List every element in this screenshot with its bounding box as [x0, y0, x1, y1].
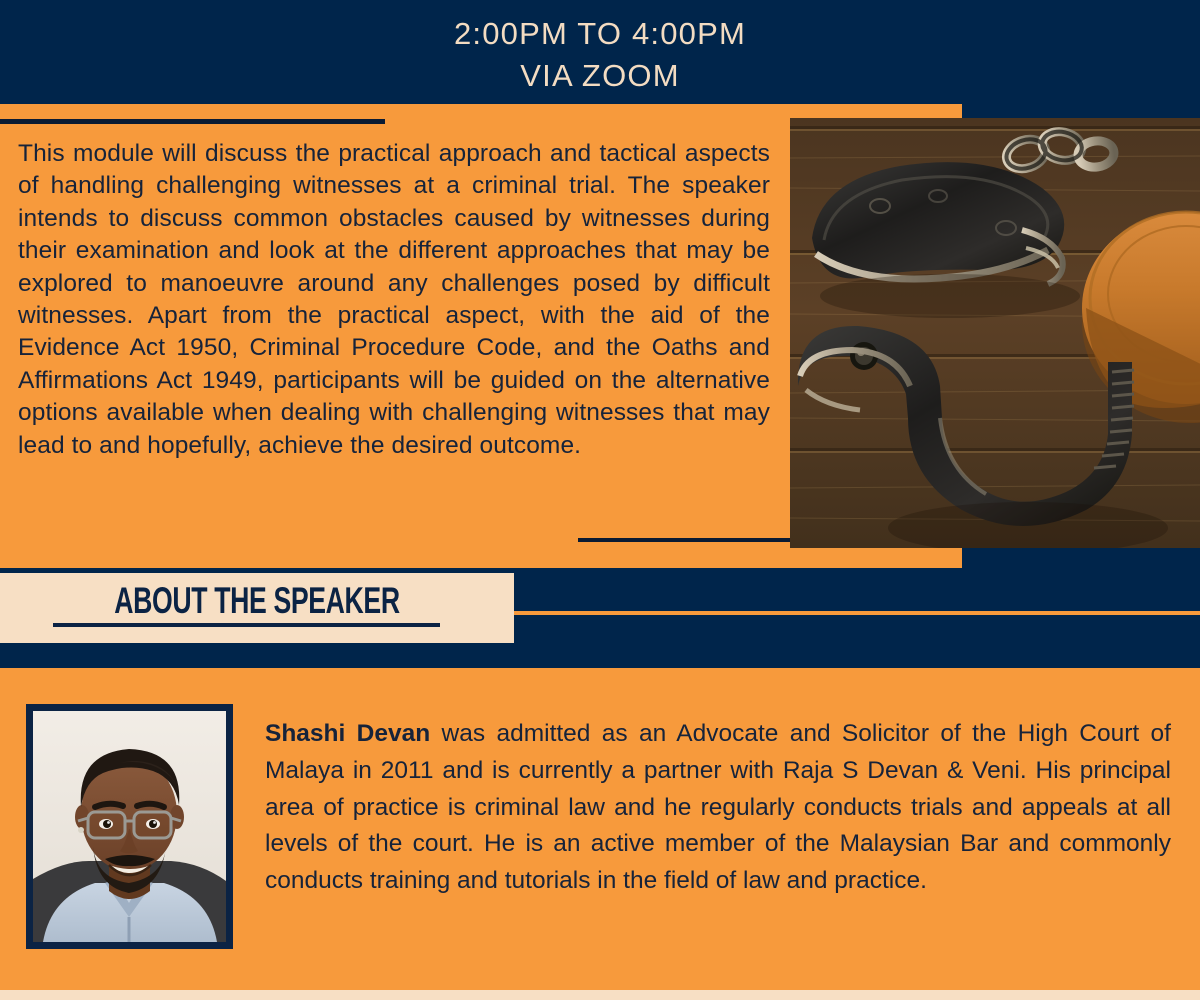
banner-right-rule	[514, 611, 1200, 615]
speaker-portrait	[33, 711, 226, 942]
about-speaker-title: ABOUT THE SPEAKER	[72, 580, 442, 622]
module-description-text: This module will discuss the practical a…	[18, 138, 770, 462]
handcuffs-image	[790, 118, 1200, 548]
speaker-name: Shashi Devan	[265, 720, 430, 747]
description-top-rule	[0, 119, 385, 124]
event-time: 2:00PM TO 4:00PM	[0, 16, 1200, 52]
about-speaker-banner: ABOUT THE SPEAKER	[0, 573, 514, 643]
poster-header: , 2:00PM TO 4:00PM VIA ZOOM	[0, 0, 1200, 104]
description-bottom-rule	[578, 538, 790, 542]
handcuffs-illustration	[790, 118, 1200, 548]
speaker-portrait-frame	[26, 704, 233, 949]
footer-cream-strip	[0, 990, 1200, 1000]
about-speaker-underline	[53, 623, 440, 627]
speaker-bio-text: Shashi Devan was admitted as an Advocate…	[265, 716, 1171, 900]
event-platform: VIA ZOOM	[0, 58, 1200, 94]
speaker-portrait-illustration	[33, 711, 226, 942]
event-poster: , 2:00PM TO 4:00PM VIA ZOOM This module …	[0, 0, 1200, 1000]
